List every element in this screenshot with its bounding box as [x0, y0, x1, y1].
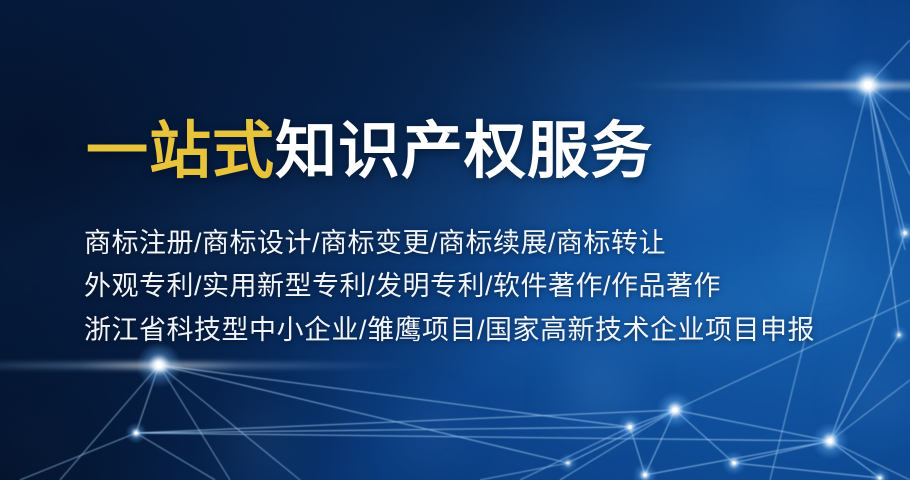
banner-headline: 一站式知识产权服务	[86, 118, 653, 186]
headline-highlight: 一站式	[86, 117, 275, 186]
banner-content: 一站式知识产权服务 商标注册/商标设计/商标变更/商标续展/商标转让 外观专利/…	[0, 0, 910, 480]
headline-rest: 知识产权服务	[275, 117, 653, 186]
service-line-government-programs: 浙江省科技型中小企业/雏鹰项目/国家高新技术企业项目申报	[84, 315, 815, 345]
service-line-patent-copyright: 外观专利/实用新型专利/发明专利/软件著作/作品著作	[84, 271, 721, 301]
service-line-trademark: 商标注册/商标设计/商标变更/商标续展/商标转让	[84, 228, 666, 258]
promo-banner: 一站式知识产权服务 商标注册/商标设计/商标变更/商标续展/商标转让 外观专利/…	[0, 0, 910, 480]
